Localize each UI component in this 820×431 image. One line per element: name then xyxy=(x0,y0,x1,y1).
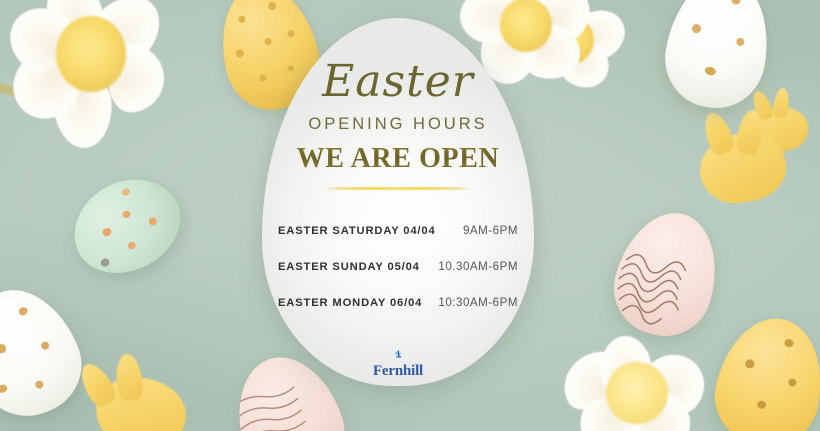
hours-row-sunday: EASTER SUNDAY 05/04 10.30AM-6PM xyxy=(272,260,524,273)
fernhill-wordmark: Fernhill xyxy=(373,364,423,379)
gold-divider xyxy=(323,187,473,190)
we-are-open-headline: WE ARE OPEN xyxy=(297,143,500,175)
egg-card-panel: Easter OPENING HOURS WE ARE OPEN EASTER … xyxy=(262,18,534,386)
fernhill-logo: Fernhill xyxy=(262,348,534,379)
flower-corona xyxy=(606,362,668,424)
yellow-paper-bunny-bottom-left xyxy=(78,352,198,431)
hours-time-value: 10:30AM-6PM xyxy=(438,296,518,309)
daffodil-top-left xyxy=(0,0,184,148)
hours-row-saturday: EASTER SATURDAY 04/04 9AM-6PM xyxy=(272,224,524,237)
hours-time-value: 10.30AM-6PM xyxy=(438,260,518,273)
subtitle-opening-hours: OPENING HOURS xyxy=(308,115,487,134)
flower-corona xyxy=(56,16,126,92)
opening-hours-table: EASTER SATURDAY 04/04 9AM-6PM EASTER SUN… xyxy=(272,224,524,332)
hours-day-label: EASTER SATURDAY 04/04 xyxy=(278,225,436,237)
hours-time-value: 9AM-6PM xyxy=(463,224,518,237)
yellow-paper-bunny-right xyxy=(690,112,798,206)
hours-row-monday: EASTER MONDAY 06/04 10:30AM-6PM xyxy=(272,296,524,309)
easter-opening-hours-poster: Easter OPENING HOURS WE ARE OPEN EASTER … xyxy=(0,0,820,431)
hours-day-label: EASTER SUNDAY 05/04 xyxy=(278,261,420,273)
hours-day-label: EASTER MONDAY 06/04 xyxy=(278,297,422,309)
fernhill-leaf-mark-icon xyxy=(390,348,407,363)
daffodil-bottom-right xyxy=(548,340,718,431)
page-title: Easter xyxy=(322,60,474,104)
